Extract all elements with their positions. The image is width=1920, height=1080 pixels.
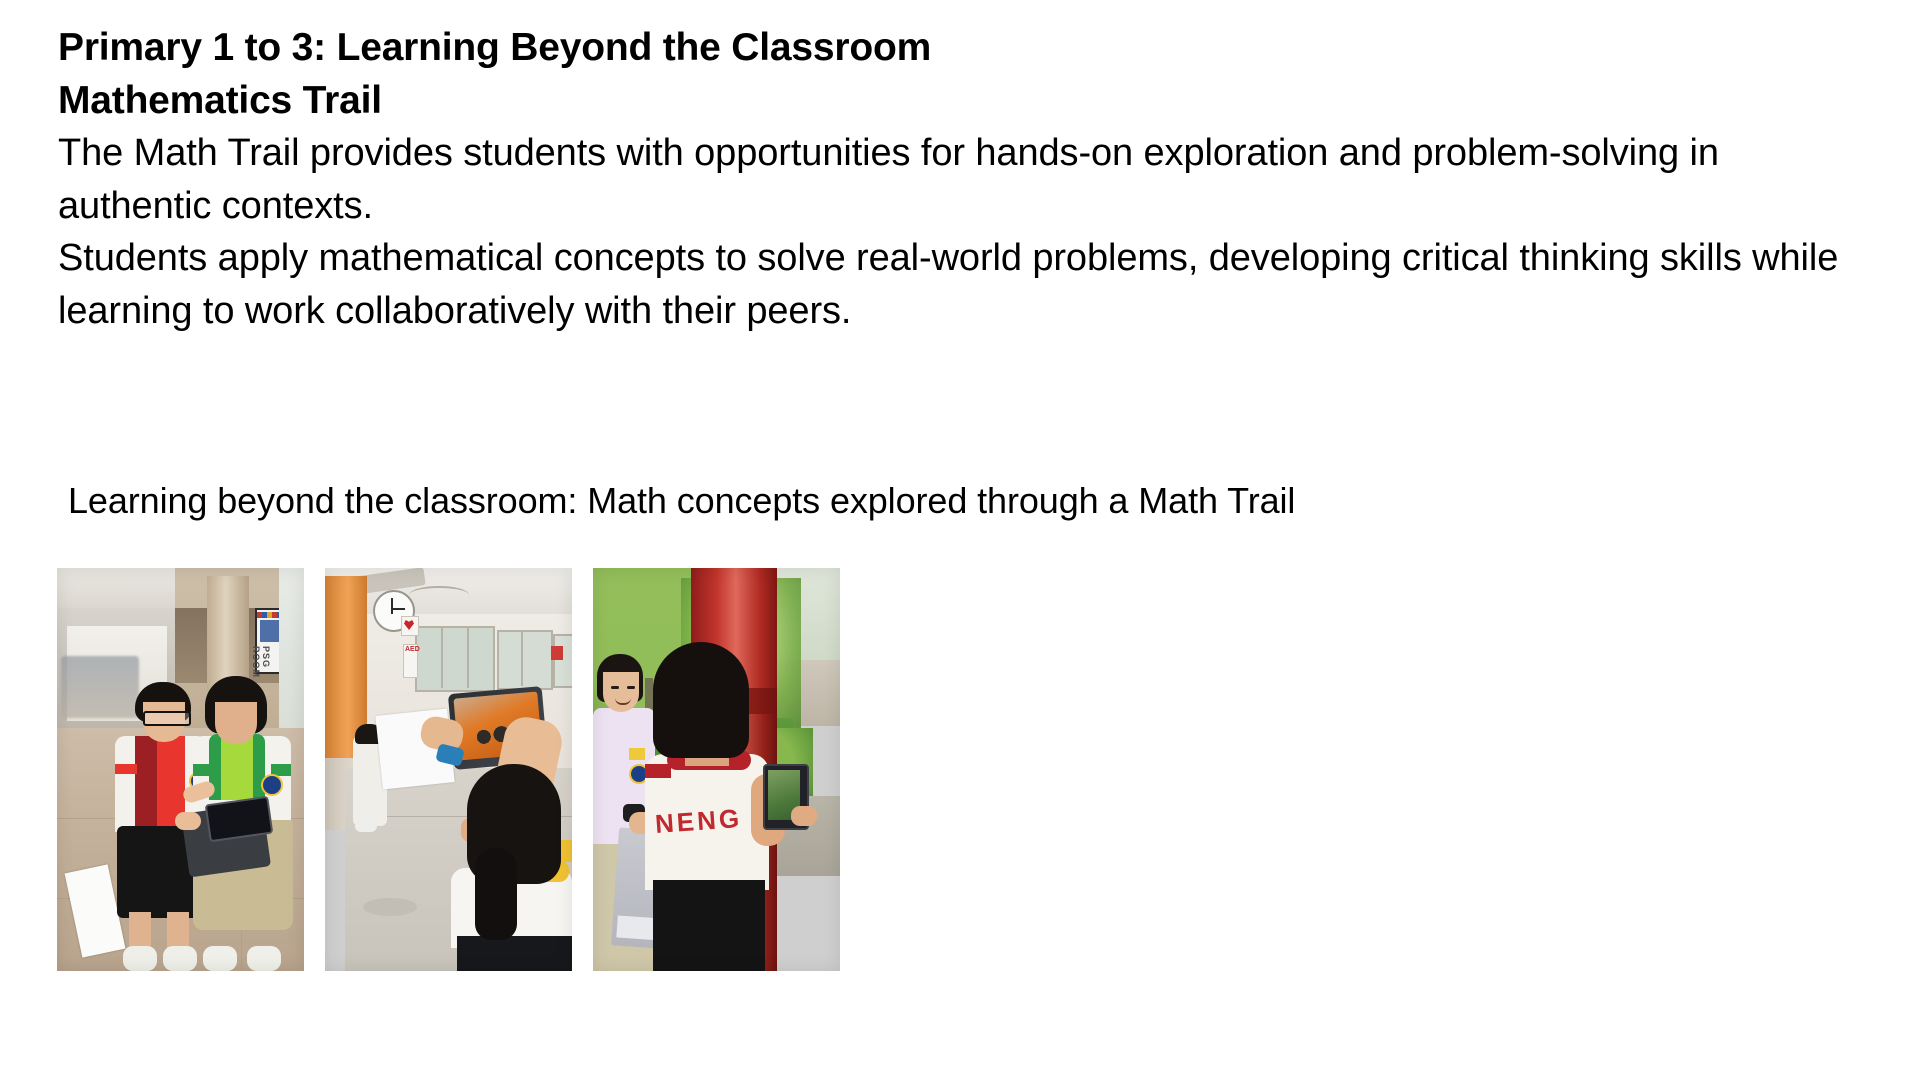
slide-text-block: Primary 1 to 3: Learning Beyond the Clas…	[58, 22, 1878, 337]
body-paragraph-2: Students apply mathematical concepts to …	[58, 232, 1878, 337]
body-paragraph-1: The Math Trail provides students with op…	[58, 127, 1878, 232]
photo-vignette	[325, 568, 572, 971]
page-title: Primary 1 to 3: Learning Beyond the Clas…	[58, 22, 1878, 75]
photo-student-tablet-raised: AED	[325, 568, 572, 971]
photo-caption: Learning beyond the classroom: Math conc…	[68, 478, 1295, 525]
photo-vignette	[57, 568, 304, 971]
photo-vignette	[593, 568, 840, 971]
page-subtitle: Mathematics Trail	[58, 75, 1878, 128]
photo-students-tablet-corridor: PSG ROOM	[57, 568, 304, 971]
photo-gallery: PSG ROOM	[57, 568, 840, 971]
photo-students-red-pillar: NENG	[593, 568, 840, 971]
slide-canvas: Primary 1 to 3: Learning Beyond the Clas…	[0, 0, 1920, 1080]
